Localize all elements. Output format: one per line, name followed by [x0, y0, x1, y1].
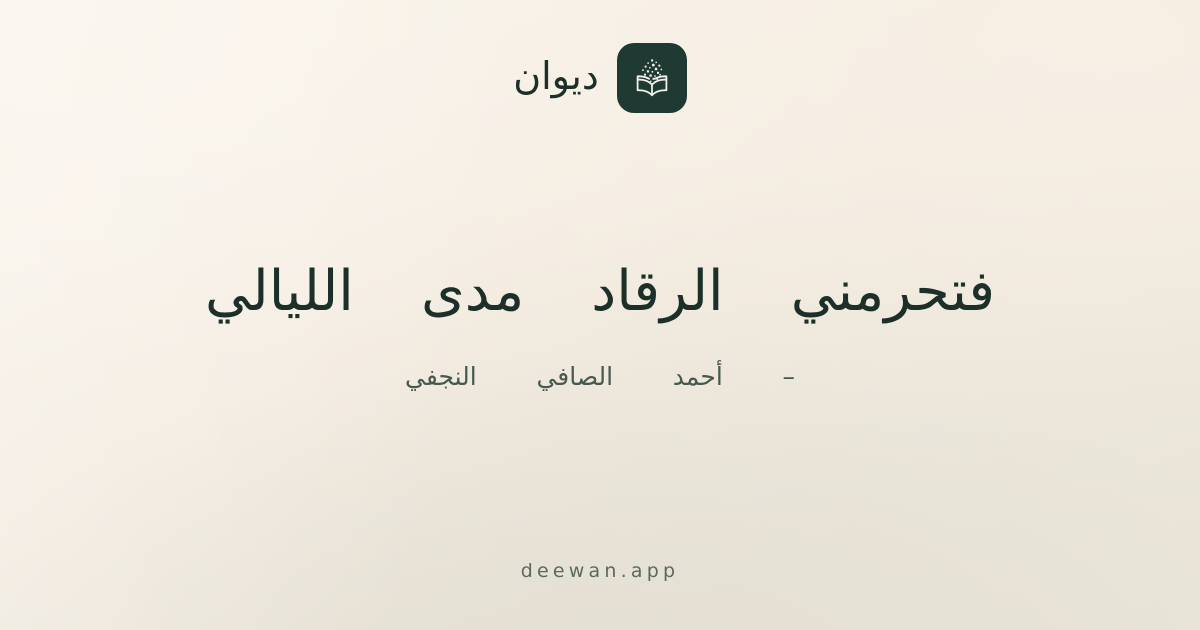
poem-verse: فتحرمني الرقاد مدى الليالي [205, 254, 995, 329]
quote-card: ديوان فتحرمني الرقاد مدى الليالي – أحمد … [0, 0, 1200, 630]
poem-attribution: – أحمد الصافي النجفي [405, 361, 795, 394]
verse-block: فتحرمني الرقاد مدى الليالي – أحمد الصافي… [0, 87, 1200, 560]
site-url: deewan.app [521, 560, 679, 582]
